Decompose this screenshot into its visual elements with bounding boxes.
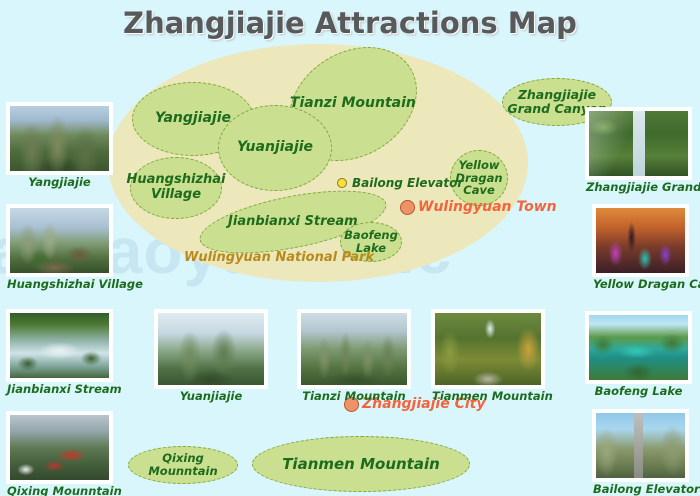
marker-wulingyuan-town[interactable]: Wulingyuan Town	[400, 199, 557, 215]
thumbnail-huangshizhai-village[interactable]: Huangshizhai Village	[7, 205, 112, 291]
thumbnail-caption: Huangshizhai Village	[7, 278, 112, 291]
zone-tianmen-mountain-label: Tianmen Mountain	[282, 456, 440, 473]
thumbnail-tianmen-mountain[interactable]: Tianmen Mountain	[432, 310, 544, 403]
photo-karst-peaks-green	[10, 106, 109, 171]
zone-qixing-mounntain-label: Qixing Mounntain	[129, 452, 237, 478]
thumbnail-caption: Yuanjiajie	[155, 390, 267, 403]
thumbnail-zhangjiajie-grand-canyon[interactable]: Zhangjiajie Grand Canyon	[586, 108, 691, 194]
thumbnail-caption: Bailong Elevator	[593, 483, 688, 496]
thumbnail-baofeng-lake[interactable]: Baofeng Lake	[586, 312, 691, 398]
page-title: Zhangjiajie Attractions Map	[0, 6, 700, 40]
zone-huangshizhai-village[interactable]: Huangshizhai Village	[130, 157, 222, 219]
photo-red-pagoda-ridge	[10, 415, 109, 480]
zone-tianzi-mountain-label: Tianzi Mountain	[290, 96, 416, 112]
marker-bailong-elevator-label: Bailong Elevator	[352, 176, 463, 190]
thumbnail-frame	[7, 310, 112, 381]
thumbnail-yellow-dragan-cave[interactable]: Yellow Dragan Cave	[593, 205, 688, 291]
thumbnail-frame	[586, 108, 691, 179]
zone-tianmen-mountain[interactable]: Tianmen Mountain	[252, 436, 470, 492]
photo-misty-pillars	[158, 313, 264, 385]
thumbnail-frame	[7, 412, 112, 483]
thumbnail-frame	[593, 205, 688, 276]
zone-jianbianxi-stream-label: Jianbianxi Stream	[228, 215, 358, 230]
marker-bailong-elevator[interactable]: Bailong Elevator	[337, 176, 463, 190]
thumbnail-frame	[155, 310, 267, 388]
thumbnail-bailong-elevator[interactable]: Bailong Elevator	[593, 410, 688, 496]
thumbnail-frame	[432, 310, 544, 388]
large-orange-dot-icon	[400, 200, 415, 215]
photo-forest-stream	[10, 313, 109, 378]
thumbnail-frame	[298, 310, 410, 388]
thumbnail-caption: Baofeng Lake	[586, 385, 691, 398]
thumbnail-frame	[7, 103, 112, 174]
thumbnail-yangjiajie[interactable]: Yangjiajie	[7, 103, 112, 189]
marker-wulingyuan-town-label: Wulingyuan Town	[418, 199, 557, 215]
thumbnail-caption: Jianbianxi Stream	[7, 383, 112, 396]
photo-glass-bridge	[589, 111, 688, 176]
wulingyuan-national-park-label: Wulingyuan National Park	[184, 250, 374, 265]
thumbnail-frame	[593, 410, 688, 481]
map-canvas: aodaoytravel.c Zhangjiajie Attractions M…	[0, 0, 700, 496]
thumbnail-caption: Tianmen Mountain	[432, 390, 544, 403]
zone-huangshizhai-village-label: Huangshizhai Village	[127, 173, 226, 202]
zone-qixing-mounntain[interactable]: Qixing Mounntain	[128, 446, 238, 484]
thumbnail-caption: Yangjiajie	[7, 176, 112, 189]
thumbnail-jianbianxi-stream[interactable]: Jianbianxi Stream	[7, 310, 112, 396]
thumbnail-tianzi-mountain[interactable]: Tianzi Mountain	[298, 310, 410, 403]
photo-lit-cave	[596, 208, 685, 273]
thumbnail-qixing-mounntain[interactable]: Qixing Mounntain	[7, 412, 112, 496]
zone-yuanjiajie-label: Yuanjiajie	[237, 140, 313, 156]
thumbnail-caption: Qixing Mounntain	[7, 485, 112, 496]
zone-yangjiajie-label: Yangjiajie	[155, 111, 231, 127]
thumbnail-caption: Yellow Dragan Cave	[593, 278, 688, 291]
thumbnail-frame	[586, 312, 691, 383]
photo-green-lake	[589, 315, 688, 380]
photo-heavens-gate	[435, 313, 541, 385]
thumbnail-yuanjiajie[interactable]: Yuanjiajie	[155, 310, 267, 403]
thumbnail-caption: Zhangjiajie Grand Canyon	[586, 181, 691, 194]
photo-monkey-on-branch	[10, 208, 109, 273]
thumbnail-caption: Tianzi Mountain	[298, 390, 410, 403]
photo-cliff-elevator	[596, 413, 685, 478]
zone-yuanjiajie[interactable]: Yuanjiajie	[218, 105, 332, 191]
photo-stone-peaks	[301, 313, 407, 385]
small-yellow-dot-icon	[337, 178, 347, 188]
thumbnail-frame	[7, 205, 112, 276]
